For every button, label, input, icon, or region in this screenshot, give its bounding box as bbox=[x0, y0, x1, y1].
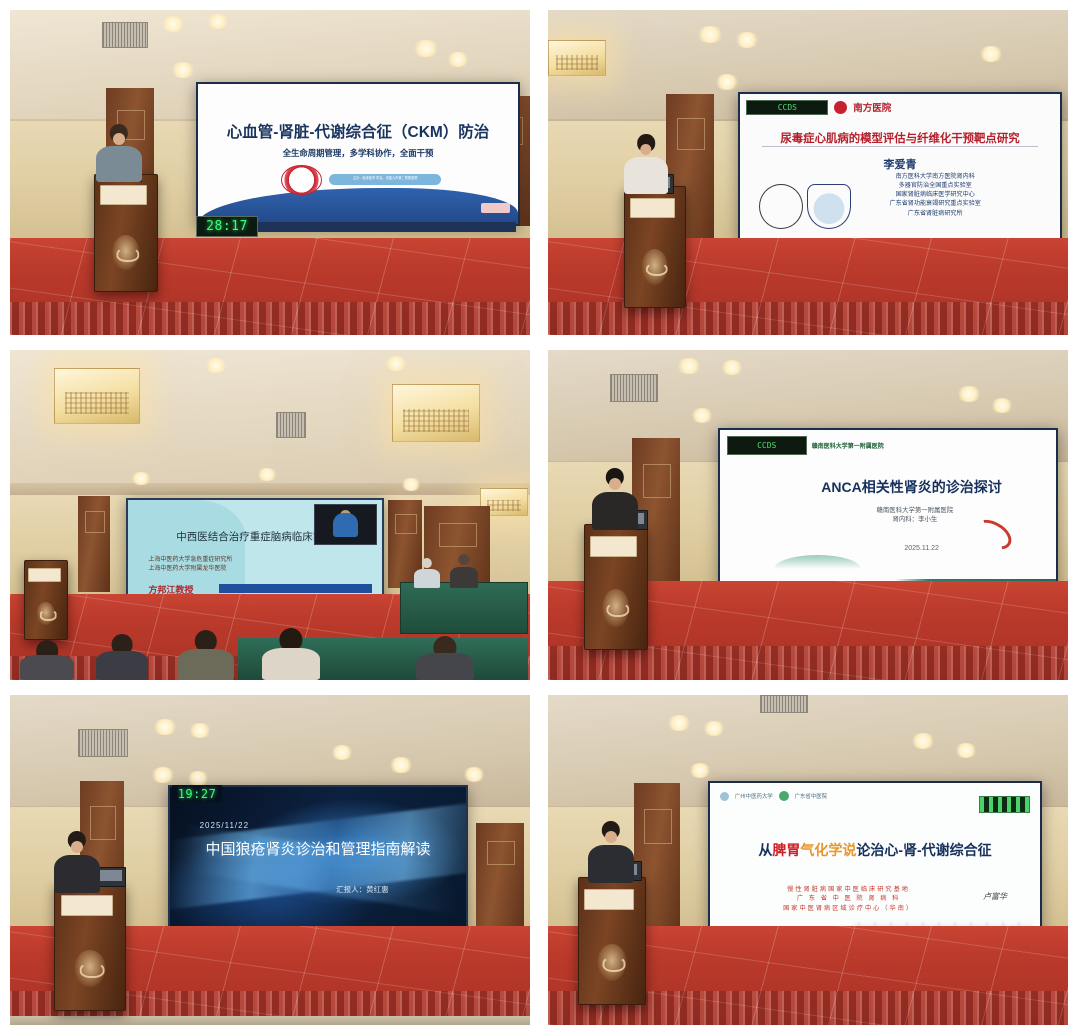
speaker-face bbox=[71, 841, 83, 853]
hotel-emblem-icon bbox=[37, 602, 55, 625]
affiliation-item: 广 东 省 中 医 院 肾 病 科 bbox=[743, 894, 954, 904]
divider bbox=[762, 146, 1037, 147]
institution-shield-icon bbox=[807, 184, 851, 229]
ceiling-vent bbox=[610, 374, 658, 402]
speaker-face bbox=[640, 144, 651, 155]
downlight-icon bbox=[702, 721, 726, 736]
affiliation-list: 南方医科大学南方医院肾内科 多器官防治全国重点实验室 国家肾脏病临床医学研究中心… bbox=[830, 172, 1041, 217]
panelist-body bbox=[414, 569, 440, 588]
downlight-icon bbox=[720, 360, 744, 375]
name-plate bbox=[100, 185, 147, 204]
name-plate bbox=[61, 895, 113, 916]
name-plate bbox=[584, 889, 634, 910]
downlight-icon bbox=[330, 745, 354, 760]
photo-panel-tcm-encephalopathy-lecture[interactable]: 中西医结合治疗重症脑病临床实践 上海中医药大学急危重症研究所 上海中医药大学附属… bbox=[10, 350, 530, 680]
downlight-icon bbox=[170, 62, 196, 78]
downlight-icon bbox=[978, 46, 1004, 62]
audience-body bbox=[96, 651, 148, 680]
speaker-body bbox=[592, 492, 638, 530]
downlight-icon bbox=[446, 52, 470, 67]
downlight-icon bbox=[714, 74, 740, 90]
downlight-icon bbox=[150, 767, 176, 783]
downlight-icon bbox=[690, 408, 714, 423]
speaker-body bbox=[588, 845, 634, 883]
slide-title: 从脾胃气化学说论治心-肾-代谢综合征 bbox=[727, 840, 1024, 860]
hotel-emblem-icon bbox=[112, 235, 139, 270]
slide-title: ANCA相关性肾炎的诊治探讨 bbox=[780, 477, 1042, 497]
projection-screen: 2025/11/22 中国狼疮肾炎诊治和管理指南解读 汇报人：黄红惠 · · ·… bbox=[168, 785, 468, 945]
downlight-icon bbox=[910, 733, 936, 749]
downlight-icon bbox=[384, 356, 408, 371]
logo-icon bbox=[779, 791, 789, 801]
affiliation-item: 国家肾脏病临床医学研究中心 bbox=[830, 190, 1041, 199]
reporter-name: 汇报人：黄红惠 bbox=[288, 884, 436, 895]
speaker-face bbox=[605, 831, 617, 843]
slide-date: 2025/11/22 bbox=[200, 821, 249, 830]
downlight-icon bbox=[400, 478, 422, 491]
photo-panel-spleen-stomach-lecture[interactable]: 广州中医药大学 广东省中医院 从脾胃气化学说论治心-肾-代谢综合征 慢性肾脏病国… bbox=[548, 695, 1068, 1025]
ceiling-vent bbox=[102, 22, 148, 48]
downlight-icon bbox=[206, 14, 230, 29]
downlight-icon bbox=[388, 757, 414, 773]
title-part: 论治心-肾-代谢综合征 bbox=[856, 842, 991, 858]
slide-uremic: CCDS 南方医院 尿毒症心肌病的模型评估与纤维化干预靶点研究 李爱青 南方医科… bbox=[740, 94, 1060, 242]
led-display: CCDS bbox=[746, 100, 828, 115]
led-display bbox=[979, 796, 1031, 813]
hospital-name: 南方医院 bbox=[853, 100, 891, 114]
downlight-icon bbox=[666, 715, 692, 731]
decorative-hill bbox=[774, 555, 861, 569]
downlight-icon bbox=[204, 358, 228, 373]
affiliation-item: 慢性肾脏病国家中医临床研究基地 bbox=[743, 885, 954, 895]
slide-spleen-stomach: 广州中医药大学 广东省中医院 从脾胃气化学说论治心-肾-代谢综合征 慢性肾脏病国… bbox=[710, 783, 1040, 947]
photo-panel-lupus-nephritis-lecture[interactable]: 2025/11/22 中国狼疮肾炎诊治和管理指南解读 汇报人：黄红惠 · · ·… bbox=[10, 695, 530, 1025]
head-table bbox=[400, 582, 528, 634]
signature: 卢富华 bbox=[983, 891, 1007, 902]
projection-screen: CCDS 赣南医科大学第一附属医院 ANCA相关性肾炎的诊治探讨 赣南医科大学第… bbox=[718, 428, 1058, 590]
potted-plant bbox=[462, 865, 518, 959]
audience-figure bbox=[262, 628, 320, 680]
speaker-figure bbox=[588, 821, 634, 883]
photo-grid: 心血管-肾脏-代谢综合征（CKM）防治 全生命周期管理，多学科协作，全面干预 主… bbox=[0, 0, 1080, 1028]
speaker-face bbox=[113, 133, 125, 145]
audience-body bbox=[20, 655, 74, 680]
ceiling-box-lamp bbox=[54, 368, 140, 424]
countdown-timer-visible: 19:27 bbox=[172, 785, 222, 802]
audience-body bbox=[416, 653, 474, 680]
downlight-icon bbox=[734, 32, 760, 48]
ceiling-box-lamp bbox=[548, 40, 606, 76]
slide-header: 广州中医药大学 广东省中医院 bbox=[720, 791, 827, 801]
potted-plant bbox=[28, 160, 90, 256]
front-floor bbox=[10, 1016, 530, 1025]
speaker-body bbox=[54, 855, 100, 893]
title-part: 气化学说 bbox=[800, 842, 856, 858]
downlight-icon bbox=[954, 743, 978, 758]
downlight-icon bbox=[688, 763, 712, 778]
name-plate bbox=[590, 536, 637, 557]
podium bbox=[94, 174, 158, 292]
downlight-icon bbox=[188, 723, 212, 738]
downlight-icon bbox=[676, 358, 702, 374]
slide-corner-tag bbox=[481, 203, 510, 213]
logo-icon bbox=[720, 792, 729, 801]
slide-banner: 主办：临床医学 学会，省直九市第二附属医院 bbox=[329, 174, 441, 185]
audience-figure bbox=[416, 636, 474, 680]
affiliation-item: 多器官防治全国重点实验室 bbox=[830, 181, 1041, 190]
podium bbox=[624, 186, 686, 308]
title-part: 从 bbox=[758, 842, 772, 858]
audience-body bbox=[178, 649, 234, 680]
downlight-icon bbox=[160, 16, 186, 32]
speaker-figure bbox=[54, 831, 100, 893]
hotel-emblem-icon bbox=[75, 950, 106, 988]
video-pip bbox=[314, 504, 377, 545]
downlight-icon bbox=[956, 386, 982, 402]
panelist-figure bbox=[414, 558, 440, 588]
downlight-icon bbox=[186, 771, 210, 786]
header-label: 广东省中医院 bbox=[795, 792, 827, 800]
audience-figure bbox=[178, 630, 234, 680]
slide-accent-bar bbox=[219, 584, 371, 593]
affiliation-item: 南方医科大学南方医院肾内科 bbox=[830, 172, 1041, 181]
led-display: CCDS bbox=[727, 436, 807, 455]
potted-plant bbox=[1024, 881, 1068, 957]
potted-plant bbox=[58, 546, 104, 618]
affiliation-item: 广东省肾脏病研究所 bbox=[830, 209, 1041, 218]
name-plate bbox=[28, 568, 60, 582]
hospital-name: 赣南医科大学第一附属医院 bbox=[812, 441, 884, 450]
panelist-head bbox=[422, 558, 432, 568]
audience-figure bbox=[20, 640, 74, 680]
downlight-icon bbox=[152, 719, 178, 735]
downlight-icon bbox=[256, 468, 278, 481]
affiliation-item: 上海中医药大学急危重症研究所 bbox=[148, 556, 232, 565]
speaker-body bbox=[624, 157, 668, 194]
slide-anca: CCDS 赣南医科大学第一附属医院 ANCA相关性肾炎的诊治探讨 赣南医科大学第… bbox=[720, 430, 1056, 588]
projection-screen: CCDS 南方医院 尿毒症心肌病的模型评估与纤维化干预靶点研究 李爱青 南方医科… bbox=[738, 92, 1062, 244]
ceiling-vent bbox=[78, 729, 128, 757]
affiliation-item: 广东省肾功能衰竭研究重点实验室 bbox=[830, 199, 1041, 208]
stage-skirt bbox=[10, 302, 530, 335]
panelist-figure bbox=[450, 554, 478, 588]
photo-panel-ckm-lecture[interactable]: 心血管-肾脏-代谢综合征（CKM）防治 全生命周期管理，多学科协作，全面干预 主… bbox=[10, 10, 530, 335]
affiliation-item: 上海中医药大学附属龙华医院 bbox=[148, 565, 232, 574]
downlight-icon bbox=[696, 26, 724, 43]
speaker-figure bbox=[624, 134, 668, 194]
downlight-icon bbox=[990, 398, 1014, 413]
slide-title: 心血管-肾脏-代谢综合征（CKM）防治 bbox=[198, 120, 518, 142]
downlight-icon bbox=[130, 472, 152, 485]
institution-seal-icon bbox=[759, 184, 803, 229]
slide-date: 2025.11.22 bbox=[861, 545, 982, 552]
hotel-emblem-icon bbox=[602, 589, 629, 626]
ceiling-vent bbox=[276, 412, 306, 438]
slide-title: 中国狼疮肾炎诊治和管理指南解读 bbox=[185, 838, 451, 859]
panelist-head bbox=[458, 554, 469, 565]
speaker-figure bbox=[96, 124, 142, 182]
affiliation-item: 赣南医科大学第一附属医院 bbox=[821, 506, 1009, 516]
seal-icon bbox=[281, 165, 321, 195]
slide-header: CCDS 赣南医科大学第一附属医院 bbox=[727, 436, 884, 455]
affiliation-list: 慢性肾脏病国家中医临床研究基地 广 东 省 中 医 院 肾 病 科 国家中医肾病… bbox=[743, 885, 954, 914]
speaker-name: 李爱青 bbox=[740, 156, 1060, 172]
affiliation-item: 国家中医肾病区域诊疗中心（华南） bbox=[743, 904, 954, 914]
projection-screen: 广州中医药大学 广东省中医院 从脾胃气化学说论治心-肾-代谢综合征 慢性肾脏病国… bbox=[708, 781, 1042, 949]
slide-ckm: 心血管-肾脏-代谢综合征（CKM）防治 全生命周期管理，多学科协作，全面干预 主… bbox=[198, 84, 518, 224]
hospital-logo-icon bbox=[834, 101, 847, 114]
hotel-emblem-icon bbox=[597, 944, 626, 982]
ceiling-box-lamp bbox=[392, 384, 480, 442]
affiliation-list: 上海中医药大学急危重症研究所 上海中医药大学附属龙华医院 bbox=[148, 556, 232, 575]
slide-header: CCDS 南方医院 bbox=[746, 98, 1053, 116]
audience-figure bbox=[96, 634, 148, 680]
slide-title: 尿毒症心肌病的模型评估与纤维化干预靶点研究 bbox=[750, 130, 1051, 146]
speaker-body bbox=[96, 146, 142, 182]
slide-subtitle: 全生命周期管理，多学科协作，全面干预 bbox=[198, 147, 518, 159]
panelist-body bbox=[450, 567, 478, 588]
podium bbox=[578, 877, 646, 1005]
podium bbox=[54, 883, 126, 1011]
name-plate bbox=[630, 198, 675, 218]
stage-skirt bbox=[548, 646, 1068, 680]
hotel-emblem-icon bbox=[642, 249, 668, 285]
title-part: 脾胃 bbox=[772, 842, 800, 858]
downlight-icon bbox=[462, 767, 486, 782]
photo-panel-anca-nephritis-lecture[interactable]: CCDS 赣南医科大学第一附属医院 ANCA相关性肾炎的诊治探讨 赣南医科大学第… bbox=[548, 350, 1068, 680]
speaker-figure bbox=[592, 468, 638, 530]
header-label: 广州中医药大学 bbox=[735, 792, 773, 800]
projection-screen: 心血管-肾脏-代谢综合征（CKM）防治 全生命周期管理，多学科协作，全面干预 主… bbox=[196, 82, 520, 226]
downlight-icon bbox=[412, 40, 440, 57]
photo-panel-uremic-cardiomyopathy-lecture[interactable]: CCDS 南方医院 尿毒症心肌病的模型评估与纤维化干预靶点研究 李爱青 南方医科… bbox=[548, 10, 1068, 335]
ceiling-vent bbox=[760, 695, 808, 713]
speaker-face bbox=[609, 478, 621, 490]
slide-lupus: 2025/11/22 中国狼疮肾炎诊治和管理指南解读 汇报人：黄红惠 · · ·… bbox=[170, 787, 466, 943]
audience-body bbox=[262, 648, 320, 680]
podium bbox=[584, 524, 648, 650]
countdown-timer: 28:17 bbox=[196, 216, 258, 237]
